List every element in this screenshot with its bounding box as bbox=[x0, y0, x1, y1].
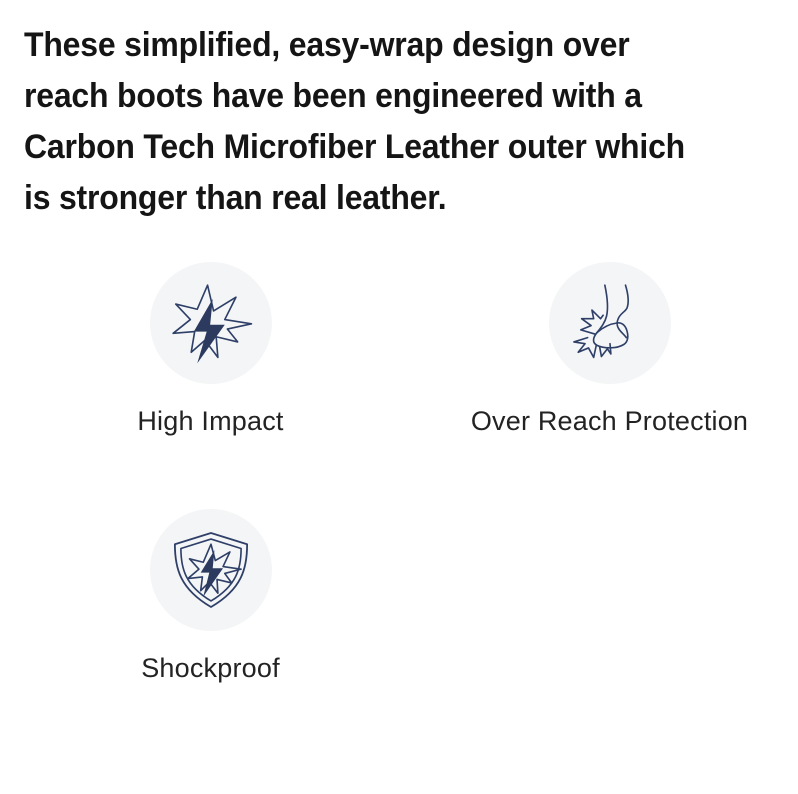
hoof-impact-icon bbox=[567, 280, 653, 366]
feature-grid: High Impact Ov bbox=[0, 262, 798, 684]
feature-icon-circle bbox=[150, 262, 272, 384]
lightning-burst-icon bbox=[168, 280, 254, 366]
feature-icon-circle bbox=[549, 262, 671, 384]
feature-label: Shockproof bbox=[141, 653, 280, 684]
row-spacer bbox=[0, 437, 798, 509]
feature-icon-circle bbox=[150, 509, 272, 631]
feature-row: High Impact Ov bbox=[0, 262, 798, 437]
feature-item-high-impact: High Impact bbox=[22, 262, 399, 437]
feature-item-empty bbox=[421, 509, 798, 684]
shield-lightning-icon bbox=[168, 527, 254, 613]
feature-label: Over Reach Protection bbox=[471, 406, 748, 437]
page-headline: These simplified, easy-wrap design over … bbox=[24, 20, 720, 224]
feature-item-over-reach-protection: Over Reach Protection bbox=[421, 262, 798, 437]
feature-row: Shockproof bbox=[0, 509, 798, 684]
feature-label: High Impact bbox=[137, 406, 283, 437]
feature-item-shockproof: Shockproof bbox=[22, 509, 399, 684]
